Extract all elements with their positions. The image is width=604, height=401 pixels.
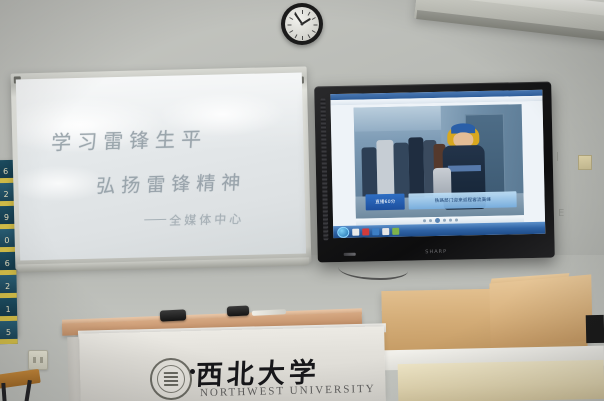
clock-center-pin [301, 23, 304, 26]
rewind-button[interactable] [428, 219, 431, 222]
desk-dark-object [586, 315, 604, 343]
whiteboard-surface: 学习雷锋生平 弘扬雷锋精神 全媒体中心 [16, 73, 306, 261]
clock-tick [289, 30, 293, 33]
clock-tick [295, 34, 298, 38]
video-passenger [393, 142, 409, 198]
media-player-window[interactable]: 直播60分 铁路部门迎来返程客流高峰 [331, 101, 545, 226]
student-desk-top [398, 360, 604, 401]
video-passenger [408, 137, 424, 197]
chyron-live-badge: 直播60分 [366, 193, 406, 210]
wall-clock [281, 3, 323, 45]
wall-mark-left: | [556, 152, 559, 162]
taskbar-icon-app[interactable] [382, 227, 389, 234]
clock-tick [312, 17, 316, 20]
whiteboard-eraser[interactable] [227, 305, 249, 316]
clock-face [285, 7, 319, 41]
smart-tv-display[interactable]: 直播60分 铁路部门迎来返程客流高峰 [314, 82, 555, 263]
next-button[interactable] [448, 219, 451, 222]
wall-mark-right: E [558, 208, 564, 219]
whiteboard-dash [144, 219, 166, 221]
tv-power-led [344, 253, 356, 256]
tv-screen[interactable]: 直播60分 铁路部门迎来返程客流高峰 [330, 90, 545, 238]
classroom-photo: 6 2 9 0 6 2 1 5 | E 学习雷锋生平 弘扬雷锋精神 全媒体中心 [0, 0, 604, 401]
video-canvas[interactable]: 直播60分 铁路部门迎来返程客流高峰 [354, 104, 524, 218]
whiteboard-line-2: 弘扬雷锋精神 [96, 168, 248, 199]
whiteboard-eraser[interactable] [160, 309, 187, 321]
wall-chart-cell: 5 [0, 321, 18, 344]
clock-tick [308, 34, 311, 38]
logo-dot [190, 369, 195, 374]
whiteboard-line-1: 学习雷锋生平 [50, 123, 208, 156]
wall-chart-cell: 6 [0, 252, 16, 275]
volume-icon[interactable] [454, 219, 457, 222]
taskbar-icon-folder[interactable] [352, 228, 359, 235]
wall-chart-cell: 1 [0, 298, 17, 321]
clock-tick [288, 25, 292, 26]
tv-brand-label: SHARP [425, 249, 447, 255]
play-button[interactable] [434, 218, 439, 223]
forward-button[interactable] [442, 219, 445, 222]
video-lower-third: 直播60分 铁路部门迎来返程客流高峰 [366, 191, 518, 211]
power-outlet [28, 350, 48, 370]
taskbar-icon-media-player[interactable] [362, 228, 369, 235]
clock-tick [302, 36, 303, 40]
clock-tick [308, 12, 311, 16]
clock-tick [312, 30, 316, 33]
video-passenger [376, 140, 394, 198]
whiteboard-line-3: 全媒体中心 [169, 210, 245, 229]
wall-plate [578, 155, 592, 170]
student-desk-divider [489, 274, 592, 349]
taskbar-icon-browser[interactable] [372, 228, 379, 235]
clock-tick [302, 10, 303, 14]
taskbar-icon-app[interactable] [392, 227, 399, 234]
whiteboard: 学习雷锋生平 弘扬雷锋精神 全媒体中心 [11, 66, 312, 269]
video-passenger [361, 147, 377, 196]
clock-tick [289, 17, 293, 20]
clock-tick [314, 25, 318, 26]
chyron-headline: 铁路部门迎来返程客流高峰 [409, 191, 517, 210]
video-subject-jacket-stripe [447, 165, 480, 172]
previous-button[interactable] [422, 219, 425, 222]
wall-chart-cell: 2 [0, 275, 17, 298]
start-button[interactable] [337, 226, 349, 237]
